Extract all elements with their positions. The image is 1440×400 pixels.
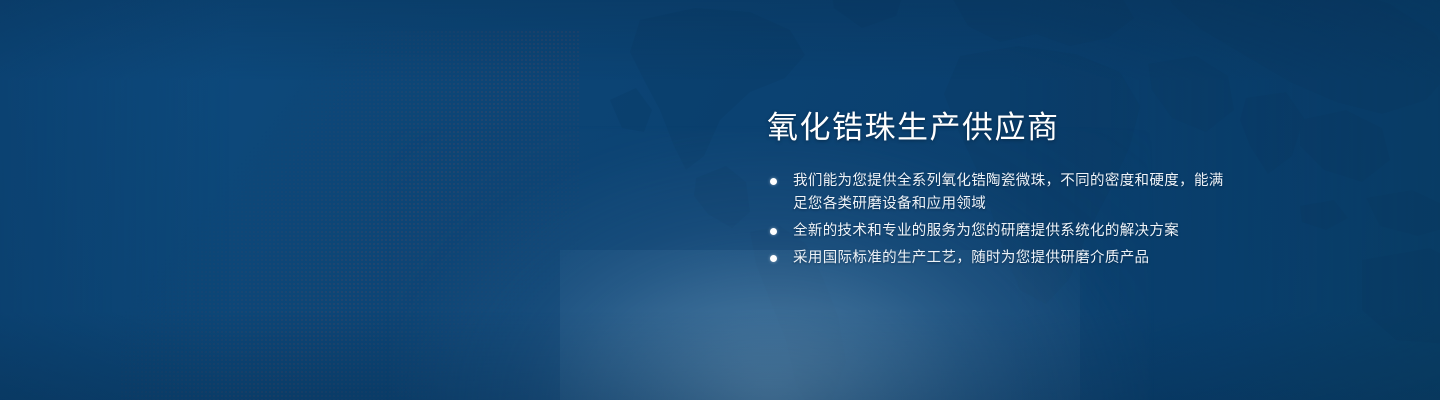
list-item: 我们能为您提供全系列氧化锆陶瓷微珠，不同的密度和硬度，能满足您各类研磨设备和应用…: [767, 170, 1237, 216]
list-item: 全新的技术和专业的服务为您的研磨提供系统化的解决方案: [767, 220, 1237, 243]
bullet-dot-icon: [770, 228, 777, 235]
bullet-dot-icon: [770, 178, 777, 185]
bullet-text: 我们能为您提供全系列氧化锆陶瓷微珠，不同的密度和硬度，能满足您各类研磨设备和应用…: [793, 173, 1224, 212]
bullet-text: 全新的技术和专业的服务为您的研磨提供系统化的解决方案: [793, 223, 1179, 239]
bullet-dot-icon: [770, 255, 777, 262]
hero-banner: 氧化锆珠生产供应商 我们能为您提供全系列氧化锆陶瓷微珠，不同的密度和硬度，能满足…: [0, 0, 1440, 400]
banner-headline: 氧化锆珠生产供应商: [767, 108, 1237, 148]
list-item: 采用国际标准的生产工艺，随时为您提供研磨介质产品: [767, 247, 1237, 270]
bullet-text: 采用国际标准的生产工艺，随时为您提供研磨介质产品: [793, 250, 1149, 266]
banner-bullet-list: 我们能为您提供全系列氧化锆陶瓷微珠，不同的密度和硬度，能满足您各类研磨设备和应用…: [767, 170, 1237, 270]
banner-copy-block: 氧化锆珠生产供应商 我们能为您提供全系列氧化锆陶瓷微珠，不同的密度和硬度，能满足…: [767, 108, 1237, 270]
